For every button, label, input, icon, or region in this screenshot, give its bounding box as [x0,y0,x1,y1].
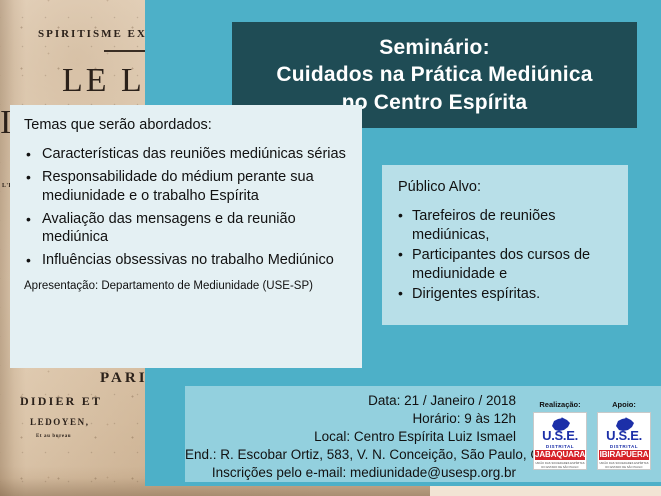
event-time: Horário: 9 às 12h [185,410,516,428]
topics-list: Características das reuniões mediúnicas … [22,145,350,270]
logo-apoio: Apoio: U.S.E. DISTRITAL IBIRAPUERA UNIÃO… [597,400,651,470]
event-place: Local: Centro Espírita Luiz Ismael [185,428,516,446]
topics-list-item: Características das reuniões mediúnicas … [22,145,350,164]
topics-list-item: Influências obsessivas no trabalho Mediú… [22,251,350,270]
logo-fine-print: UNIÃO DAS SOCIEDADES ESPÍRITAS DO ESTADO… [535,462,585,470]
poster-canvas: SPIRITISME EXPÉ LE LIV I L'ES PARIS DIDI… [0,0,661,496]
event-info-box: Data: 21 / Janeiro / 2018 Horário: 9 às … [185,386,661,482]
logo-realizacao: Realização: U.S.E. DISTRITAL JABAQUARA U… [533,400,587,470]
topics-footer-presenter: Apresentação: Departamento de Mediunidad… [24,280,350,292]
topics-list-item: Avaliação das mensagens e da reunião med… [22,210,350,248]
event-registration-email[interactable]: Inscrições pelo e-mail: mediunidade@uses… [185,464,516,482]
title-line-3: no Centro Espírita [342,89,528,116]
audience-list-item: Dirigentes espíritas. [396,285,614,304]
event-info-lines: Data: 21 / Janeiro / 2018 Horário: 9 às … [185,392,524,482]
audience-box: Público Alvo: Tarefeiros de reuniões med… [382,165,628,325]
logo-district-name: JABAQUARA [535,450,585,460]
logo-fine-print: UNIÃO DAS SOCIEDADES ESPÍRITAS DO ESTADO… [599,462,649,470]
event-address: End.: R. Escobar Ortiz, 583, V. N. Conce… [185,446,516,464]
book-publisher-note: Et au bureau [36,434,71,439]
topics-list-item: Responsabilidade do médium perante sua m… [22,168,350,206]
title-line-1: Seminário: [379,34,490,61]
event-date: Data: 21 / Janeiro / 2018 [185,392,516,410]
logo-caption-realizacao: Realização: [539,400,580,409]
title-line-2: Cuidados na Prática Mediúnica [276,61,592,88]
audience-list: Tarefeiros de reuniões mediúnicas, Parti… [396,207,614,304]
topics-heading: Temas que serão abordados: [24,117,350,133]
audience-heading: Público Alvo: [398,179,614,195]
use-jabaquara-logo: U.S.E. DISTRITAL JABAQUARA UNIÃO DAS SOC… [533,412,587,470]
book-publisher-second: LEDOYEN, [30,417,90,427]
logo-caption-apoio: Apoio: [612,400,636,409]
book-publisher: DIDIER ET [20,394,102,409]
logo-distrital-label: DISTRITAL [546,444,574,449]
logo-district-name: IBIRAPUERA [599,450,649,460]
logos-group: Realização: U.S.E. DISTRITAL JABAQUARA U… [533,400,651,470]
audience-list-item: Tarefeiros de reuniões mediúnicas, [396,207,614,244]
logo-distrital-label: DISTRITAL [610,444,638,449]
audience-list-item: Participantes dos cursos de mediunidade … [396,246,614,283]
use-ibirapuera-logo: U.S.E. DISTRITAL IBIRAPUERA UNIÃO DAS SO… [597,412,651,470]
sao-paulo-map-icon [614,417,636,433]
sao-paulo-map-icon [550,417,572,433]
topics-box: Temas que serão abordados: Característic… [10,105,362,368]
